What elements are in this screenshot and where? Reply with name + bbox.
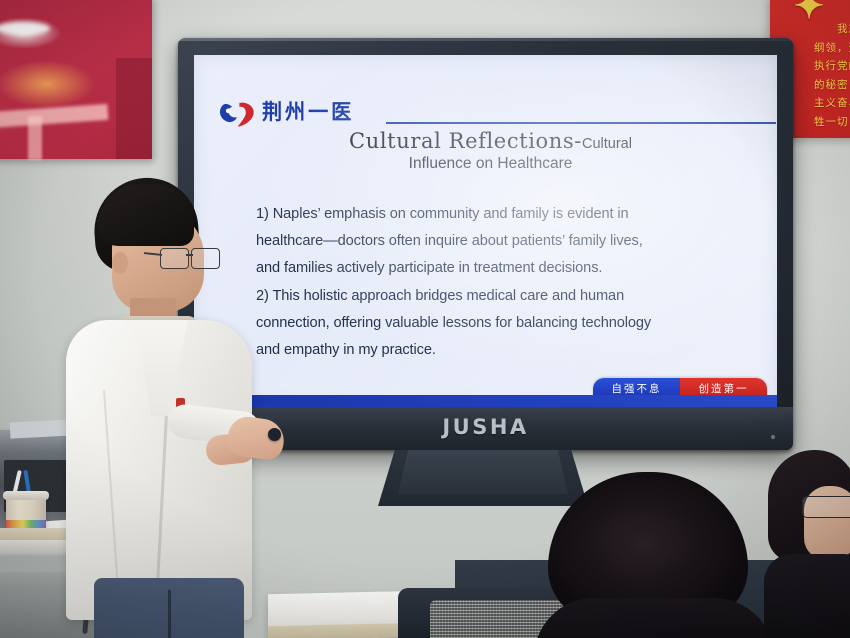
monitor-stand-neck-front [398, 450, 568, 494]
glasses-bridge [186, 254, 193, 256]
presenter-trousers [94, 578, 244, 638]
slide-title-line2: Influence on Healthcare [218, 155, 763, 173]
cup-lid [3, 491, 49, 500]
hospital-heart-logo-icon [218, 100, 256, 128]
bezel-highlight [178, 38, 793, 41]
slide-paragraph-line: connection, offering valuable lessons fo… [256, 310, 746, 337]
audience-shoulders [534, 598, 774, 638]
trouser-seam [168, 590, 171, 638]
slide-paragraph-line: healthcare—doctors often inquire about p… [256, 228, 746, 255]
slide-title-block: Cultural Reflections-Cultural Influence … [218, 129, 763, 173]
slide-title-inline: Cultural [582, 136, 632, 152]
presenter-hair-front [98, 184, 194, 246]
slide-paragraph-line: and families actively participate in tre… [256, 255, 746, 282]
eyeglasses-icon [160, 248, 218, 270]
slide-body-text: 1) Naples’ emphasis on community and fam… [256, 201, 746, 364]
slide-paragraph-line: 1) Naples’ emphasis on community and fam… [256, 201, 746, 228]
coat-fold [103, 390, 119, 590]
slide-paragraph-line: 2) This holistic approach bridges medica… [256, 283, 746, 310]
slide-title-main: Cultural Reflections- [349, 129, 582, 153]
presentation-room-photo: ✦ 我志 纲领，遵 执行党的 的秘密， 主义奋斗 牲一切， 荆州一医 [0, 0, 850, 638]
poster-shadow-block [116, 58, 152, 159]
audience-torso [764, 554, 850, 638]
presentation-screen[interactable]: 荆州一医 Cultural Reflections-Cultural Influ… [194, 55, 777, 407]
motto-right-text: 创造第一 [699, 381, 749, 396]
hospital-name-label: 荆州一医 [262, 96, 354, 126]
power-led-indicator [771, 435, 775, 439]
lens-left [160, 248, 189, 269]
red-wall-poster-left [0, 0, 152, 159]
poster-swoosh [0, 104, 108, 128]
jusha-display-monitor[interactable]: 荆州一医 Cultural Reflections-Cultural Influ… [178, 38, 793, 450]
lens-right [191, 248, 220, 269]
motto-left-text: 自强不息 [612, 381, 662, 396]
presenter [60, 178, 270, 638]
oath-line: 我志 [770, 20, 850, 39]
slide-footer-bar [194, 395, 777, 407]
slide-paragraph-line: and empathy in my practice. [256, 337, 746, 364]
poster-glare [0, 22, 50, 35]
eyeglasses-icon [802, 496, 850, 518]
presentation-pointer[interactable] [268, 428, 281, 441]
poster-swoosh-vertical [28, 116, 42, 160]
audience-member-right [760, 450, 850, 638]
presenter-ear [112, 252, 128, 274]
slide-logo-row: 荆州一医 [218, 96, 763, 132]
logo-divider-line [386, 122, 776, 124]
